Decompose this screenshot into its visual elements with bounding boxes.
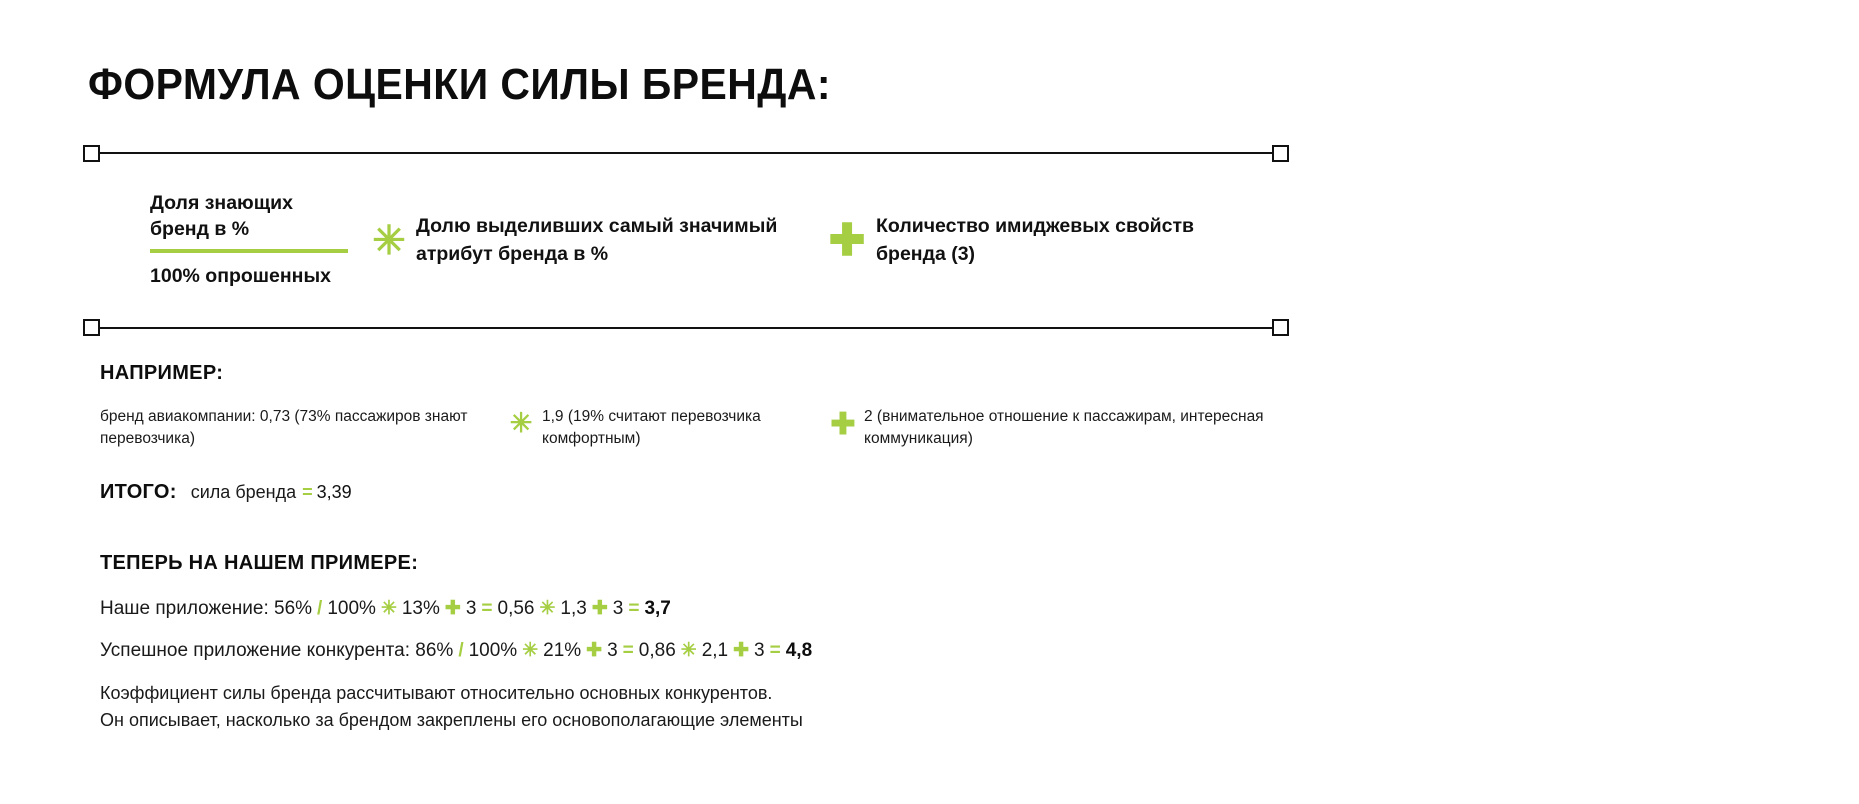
total-value: 3,39 xyxy=(317,482,352,503)
page-title: ФОРМУЛА ОЦЕНКИ СИЛЫ БРЕНДА: xyxy=(88,60,831,110)
calc-equals2-icon: = xyxy=(628,598,639,620)
total-line: ИТОГО: сила бренда = 3,39 xyxy=(100,481,352,504)
calc-step-b: 1,3 xyxy=(560,598,586,620)
total-label: ИТОГО: xyxy=(100,481,177,504)
formula-frame: Доля знающих бренд в % 100% опрошенных ✳… xyxy=(92,152,1280,329)
calc-step-a: 0,86 xyxy=(639,640,676,662)
calc-attribute: 21% xyxy=(543,640,581,662)
fraction-divider-line xyxy=(150,249,348,253)
calc-equals2-icon: = xyxy=(770,640,781,662)
calc-label: Наше приложение: 56% xyxy=(100,598,312,620)
formula-row: Доля знающих бренд в % 100% опрошенных ✳… xyxy=(92,154,1280,327)
calc-equals-icon: = xyxy=(481,598,492,620)
calc-step-c: 3 xyxy=(613,598,624,620)
calc-count: 3 xyxy=(466,598,477,620)
calc-plus-icon: ✚ xyxy=(586,639,602,662)
calc-plus2-icon: ✚ xyxy=(733,639,749,662)
formula-term-attribute-share: Долю выделивших самый значимый атрибут б… xyxy=(416,213,816,268)
example-plus-icon: ✚ xyxy=(822,406,864,440)
example-term-attribute: 1,9 (19% считают перевозчика комфортным) xyxy=(542,406,822,451)
fraction-denominator: 100% опрошенных xyxy=(150,264,350,290)
calc-divide-icon: / xyxy=(317,598,322,620)
calculation-row: Наше приложение: 56% / 100% ✳ 13% ✚ 3 = … xyxy=(100,597,676,620)
formula-term-image-properties: Количество имиджевых свойств бренда (3) xyxy=(876,213,1206,268)
calc-step-a: 0,56 xyxy=(498,598,535,620)
example-term-awareness: бренд авиакомпании: 0,73 (73% пассажиров… xyxy=(100,406,500,451)
calc-divide-icon: / xyxy=(458,640,463,662)
our-example-heading: ТЕПЕРЬ НА НАШЕМ ПРИМЕРЕ: xyxy=(100,552,418,575)
calc-equals-icon: = xyxy=(623,640,634,662)
fraction-numerator: Доля знающих бренд в % xyxy=(150,191,350,249)
calc-multiply-icon: ✳ xyxy=(381,597,397,620)
calc-plus2-icon: ✚ xyxy=(592,597,608,620)
calc-multiply2-icon: ✳ xyxy=(539,597,555,620)
total-equals-sign: = xyxy=(302,482,313,503)
calc-denominator: 100% xyxy=(327,598,376,620)
multiply-icon: ✳ xyxy=(366,221,412,261)
calc-result: 4,8 xyxy=(786,640,812,662)
calc-denominator: 100% xyxy=(469,640,518,662)
calc-step-c: 3 xyxy=(754,640,765,662)
calc-multiply-icon: ✳ xyxy=(522,639,538,662)
example-heading: НАПРИМЕР: xyxy=(100,362,223,385)
footnote: Коэффициент силы бренда рассчитывают отн… xyxy=(100,680,803,733)
example-row: бренд авиакомпании: 0,73 (73% пассажиров… xyxy=(100,406,1390,451)
calc-count: 3 xyxy=(607,640,618,662)
calc-label: Успешное приложение конкурента: 86% xyxy=(100,640,453,662)
total-text: сила бренда xyxy=(191,482,296,503)
calculation-row: Успешное приложение конкурента: 86% / 10… xyxy=(100,639,817,662)
footnote-line-1: Коэффициент силы бренда рассчитывают отн… xyxy=(100,680,803,707)
calc-multiply2-icon: ✳ xyxy=(681,639,697,662)
calc-plus-icon: ✚ xyxy=(445,597,461,620)
plus-icon: ✚ xyxy=(824,219,870,263)
footnote-line-2: Он описывает, насколько за брендом закре… xyxy=(100,707,803,734)
example-multiply-icon: ✳ xyxy=(500,406,542,437)
slide-canvas: ФОРМУЛА ОЦЕНКИ СИЛЫ БРЕНДА: Доля знающих… xyxy=(0,0,1859,804)
calc-step-b: 2,1 xyxy=(702,640,728,662)
example-term-properties: 2 (внимательное отношение к пассажирам, … xyxy=(864,406,1334,451)
calc-result: 3,7 xyxy=(644,598,670,620)
formula-fraction: Доля знающих бренд в % 100% опрошенных xyxy=(150,191,350,290)
calc-attribute: 13% xyxy=(402,598,440,620)
